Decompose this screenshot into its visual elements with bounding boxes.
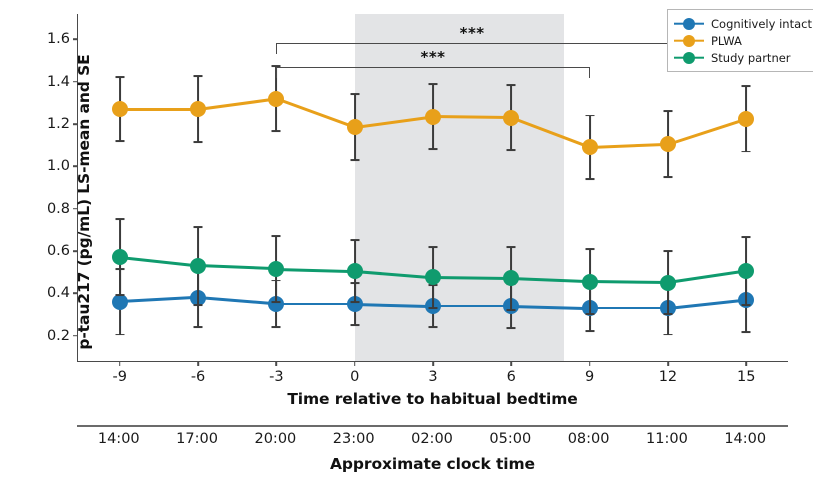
data-point-marker[interactable]	[425, 269, 441, 285]
legend: Cognitively intactPLWAStudy partner	[667, 9, 813, 72]
y-axis-tick-mark	[73, 39, 78, 41]
data-point-marker[interactable]	[190, 258, 206, 274]
x-axis-tick-label: 12	[659, 369, 677, 385]
data-point-marker[interactable]	[660, 136, 676, 152]
x-axis-tick-label: 6	[507, 369, 516, 385]
y-axis-tick-label: 0.6	[47, 243, 70, 259]
error-bar-cap	[585, 115, 594, 117]
x-axis-tick-label: -6	[191, 369, 205, 385]
error-bar-cap	[194, 326, 203, 328]
series-line-segment	[590, 143, 668, 149]
series-line-segment	[120, 256, 199, 267]
legend-marker-icon	[674, 50, 704, 65]
data-point-marker[interactable]	[112, 101, 128, 117]
data-point-marker[interactable]	[503, 110, 519, 126]
error-bar-cap	[429, 148, 438, 150]
error-bar-cap	[272, 326, 281, 328]
clock-time-tick-label: 23:00	[333, 431, 375, 447]
error-bar-cap	[272, 235, 281, 237]
y-axis-tick-mark	[73, 81, 78, 83]
y-axis-tick-mark	[73, 123, 78, 125]
series-line-segment	[198, 97, 277, 110]
clock-time-tick-label: 14:00	[98, 431, 140, 447]
x-axis-tick-mark	[589, 361, 591, 366]
error-bar-cap	[429, 246, 438, 248]
error-bar-cap	[194, 226, 203, 228]
error-bar-cap	[350, 93, 359, 95]
error-bar-cap	[115, 77, 124, 79]
clock-time-tick-label: 08:00	[568, 431, 610, 447]
significance-bracket	[276, 67, 589, 78]
x-axis-tick-label: 0	[350, 369, 359, 385]
series-line-segment	[198, 296, 277, 305]
legend-item[interactable]: Cognitively intact	[674, 15, 812, 32]
x-axis-tick-label: 3	[428, 369, 437, 385]
x-axis-tick-mark	[197, 361, 199, 366]
error-bar-cap	[585, 178, 594, 180]
clock-time-tick-label: 17:00	[176, 431, 218, 447]
error-bar-cap	[429, 326, 438, 328]
series-line-segment	[276, 303, 354, 306]
error-bar-cap	[742, 85, 751, 87]
clock-time-tick-label: 02:00	[411, 431, 453, 447]
y-axis-tick-label: 1.2	[47, 116, 70, 132]
error-bar-cap	[350, 159, 359, 161]
secondary-axis-line: 14:0017:0020:0023:0002:0005:0008:0011:00…	[77, 425, 788, 427]
x-axis-tick-mark	[432, 361, 434, 366]
series-line-segment	[433, 305, 511, 308]
error-bar-cap	[742, 236, 751, 238]
significance-stars: ***	[460, 24, 485, 42]
data-point-marker[interactable]	[660, 275, 676, 291]
legend-label: Cognitively intact	[711, 17, 812, 31]
error-bar-cap	[115, 334, 124, 336]
error-bar-cap	[194, 304, 203, 306]
series-line-segment	[668, 298, 747, 309]
series-line-segment	[276, 268, 354, 273]
series-line-segment	[276, 97, 355, 128]
error-bar-cap	[429, 83, 438, 85]
error-bar-cap	[350, 324, 359, 326]
legend-label: PLWA	[711, 34, 742, 48]
data-point-marker[interactable]	[190, 101, 206, 117]
clock-time-tick-label: 05:00	[489, 431, 531, 447]
data-point-marker[interactable]	[503, 270, 519, 286]
series-line-segment	[198, 264, 276, 270]
clock-time-tick-label: 14:00	[724, 431, 766, 447]
x-axis-tick-label: 9	[585, 369, 594, 385]
series-line-segment	[668, 270, 747, 284]
clock-time-tick-label: 11:00	[646, 431, 688, 447]
x-axis-tick-mark	[511, 361, 513, 366]
x-axis-label-secondary: Approximate clock time	[77, 455, 788, 473]
error-bar-cap	[429, 307, 438, 309]
x-axis-tick-label: 15	[737, 369, 755, 385]
x-axis-tick-mark	[276, 361, 278, 366]
y-axis-tick-label: 0.2	[47, 328, 70, 344]
error-bar-cap	[115, 140, 124, 142]
x-axis-tick-mark	[667, 361, 669, 366]
series-line-segment	[590, 307, 668, 310]
error-bar-cap	[507, 246, 516, 248]
legend-item[interactable]: Study partner	[674, 49, 812, 66]
error-bar-cap	[507, 327, 516, 329]
error-bar-cap	[663, 334, 672, 336]
data-point-marker[interactable]	[425, 109, 441, 125]
x-axis-tick-label: -9	[113, 369, 127, 385]
x-axis-tick-mark	[745, 361, 747, 366]
y-axis-tick-mark	[73, 166, 78, 168]
x-axis-tick-mark	[119, 361, 121, 366]
data-point-marker[interactable]	[738, 263, 754, 279]
series-line-segment	[120, 296, 198, 303]
y-axis-tick-mark	[73, 250, 78, 252]
error-bar-cap	[115, 294, 124, 296]
error-bar-cap	[507, 84, 516, 86]
x-axis-label-primary: Time relative to habitual bedtime	[77, 390, 788, 408]
error-bar-cap	[507, 309, 516, 311]
error-bar-cap	[742, 304, 751, 306]
y-axis-tick-mark	[73, 292, 78, 294]
error-bar-cap	[585, 248, 594, 250]
legend-marker-icon	[674, 16, 704, 31]
data-point-marker[interactable]	[738, 111, 754, 127]
error-bar-cap	[194, 75, 203, 77]
error-bar-cap	[663, 313, 672, 315]
figure-p-tau217-by-time: p-tau217 (pg/mL) LS-mean and SE ****** 0…	[0, 0, 813, 486]
y-axis-tick-label: 0.4	[47, 285, 70, 301]
x-axis-tick-mark	[354, 361, 356, 366]
significance-stars: ***	[420, 48, 445, 66]
error-bar-cap	[663, 110, 672, 112]
significance-bracket	[276, 43, 668, 54]
data-point-marker[interactable]	[582, 139, 598, 155]
y-axis-tick-mark	[73, 335, 78, 337]
error-bar-cap	[115, 218, 124, 220]
series-line-segment	[668, 117, 747, 145]
error-bar-cap	[663, 176, 672, 178]
legend-marker-icon	[674, 33, 704, 48]
data-point-marker[interactable]	[347, 119, 363, 135]
data-point-marker[interactable]	[582, 274, 598, 290]
x-axis-tick-label: -3	[269, 369, 283, 385]
error-bar-cap	[585, 313, 594, 315]
error-bar-cap	[663, 250, 672, 252]
y-axis-tick-label: 1.6	[47, 31, 70, 47]
error-bar-cap	[272, 130, 281, 132]
legend-item[interactable]: PLWA	[674, 32, 812, 49]
legend-label: Study partner	[711, 51, 791, 65]
series-line-segment	[120, 108, 198, 111]
data-point-marker[interactable]	[268, 91, 284, 107]
error-bar-cap	[350, 239, 359, 241]
data-point-marker[interactable]	[112, 249, 128, 265]
data-point-marker[interactable]	[268, 261, 284, 277]
y-axis-tick-label: 1.4	[47, 74, 70, 90]
y-axis-tick-mark	[73, 208, 78, 210]
series-line-segment	[590, 280, 668, 284]
error-bar-cap	[507, 150, 516, 152]
y-axis-tick-label: 0.8	[47, 201, 70, 217]
error-bar-cap	[194, 141, 203, 143]
error-bar-cap	[585, 330, 594, 332]
clock-time-tick-label: 20:00	[254, 431, 296, 447]
data-point-marker[interactable]	[347, 263, 363, 279]
error-bar-cap	[272, 301, 281, 303]
error-bar-cap	[742, 151, 751, 153]
error-bar-cap	[742, 331, 751, 333]
error-bar-cap	[350, 301, 359, 303]
y-axis-tick-label: 1.0	[47, 158, 70, 174]
